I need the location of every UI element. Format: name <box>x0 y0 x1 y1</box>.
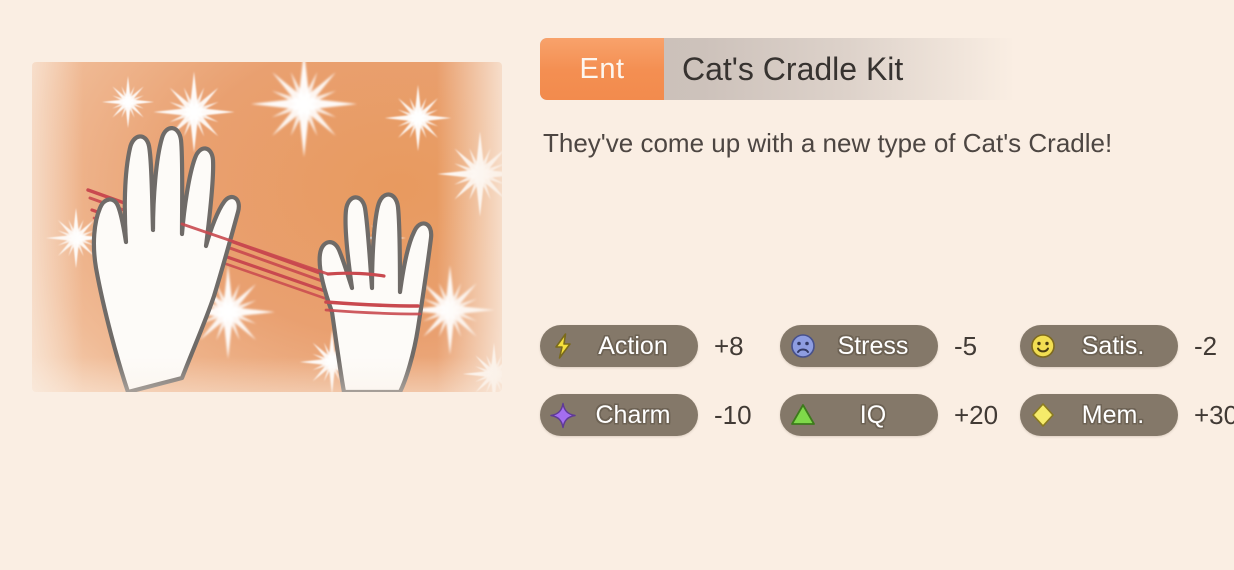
stat-memory: Mem. +30 <box>1020 394 1234 436</box>
stat-label: Stress <box>818 332 930 361</box>
cats-cradle-artwork <box>32 62 502 392</box>
stat-label: Charm <box>578 401 690 430</box>
item-detail-card: Ent Cat's Cradle Kit They've come up wit… <box>0 0 1234 570</box>
yellow-diamond-icon <box>1030 402 1056 428</box>
item-info-panel: Ent Cat's Cradle Kit They've come up wit… <box>540 0 1234 570</box>
stat-value: +20 <box>954 400 1008 431</box>
stat-label: Satis. <box>1058 332 1170 361</box>
stat-value: -5 <box>954 331 1008 362</box>
lightning-bolt-icon <box>550 333 576 359</box>
stat-iq: IQ +20 <box>780 394 1020 436</box>
stat-label: Mem. <box>1058 401 1170 430</box>
item-illustration <box>0 0 520 446</box>
stat-row: Charm -10 IQ +20 <box>540 389 1234 441</box>
stat-value: -10 <box>714 400 768 431</box>
category-badge: Ent <box>540 38 664 100</box>
stat-value: +30 <box>1194 400 1234 431</box>
item-description: They've come up with a new type of Cat's… <box>543 128 1112 159</box>
stat-pill-charm: Charm <box>540 394 698 436</box>
illustration-canvas <box>32 62 502 392</box>
stat-value: -2 <box>1194 331 1234 362</box>
stat-charm: Charm -10 <box>540 394 780 436</box>
stat-satisfaction: Satis. -2 <box>1020 325 1234 367</box>
smiley-face-icon <box>1030 333 1056 359</box>
green-triangle-icon <box>790 402 816 428</box>
stat-action: Action +8 <box>540 325 780 367</box>
stat-label: Action <box>578 332 690 361</box>
item-stat-list: Action +8 Str <box>540 320 1234 458</box>
sparkle-star-icon <box>550 402 576 428</box>
item-title: Cat's Cradle Kit <box>664 38 1020 100</box>
left-hand <box>94 128 239 392</box>
stat-pill-action: Action <box>540 325 698 367</box>
sad-face-icon <box>790 333 816 359</box>
stat-value: +8 <box>714 331 768 362</box>
stat-stress: Stress -5 <box>780 325 1020 367</box>
stat-pill-satisfaction: Satis. <box>1020 325 1178 367</box>
stat-pill-stress: Stress <box>780 325 938 367</box>
item-title-bar: Ent Cat's Cradle Kit <box>540 38 1020 100</box>
stat-label: IQ <box>818 401 930 430</box>
stat-row: Action +8 Str <box>540 320 1234 372</box>
stat-pill-iq: IQ <box>780 394 938 436</box>
stat-pill-memory: Mem. <box>1020 394 1178 436</box>
